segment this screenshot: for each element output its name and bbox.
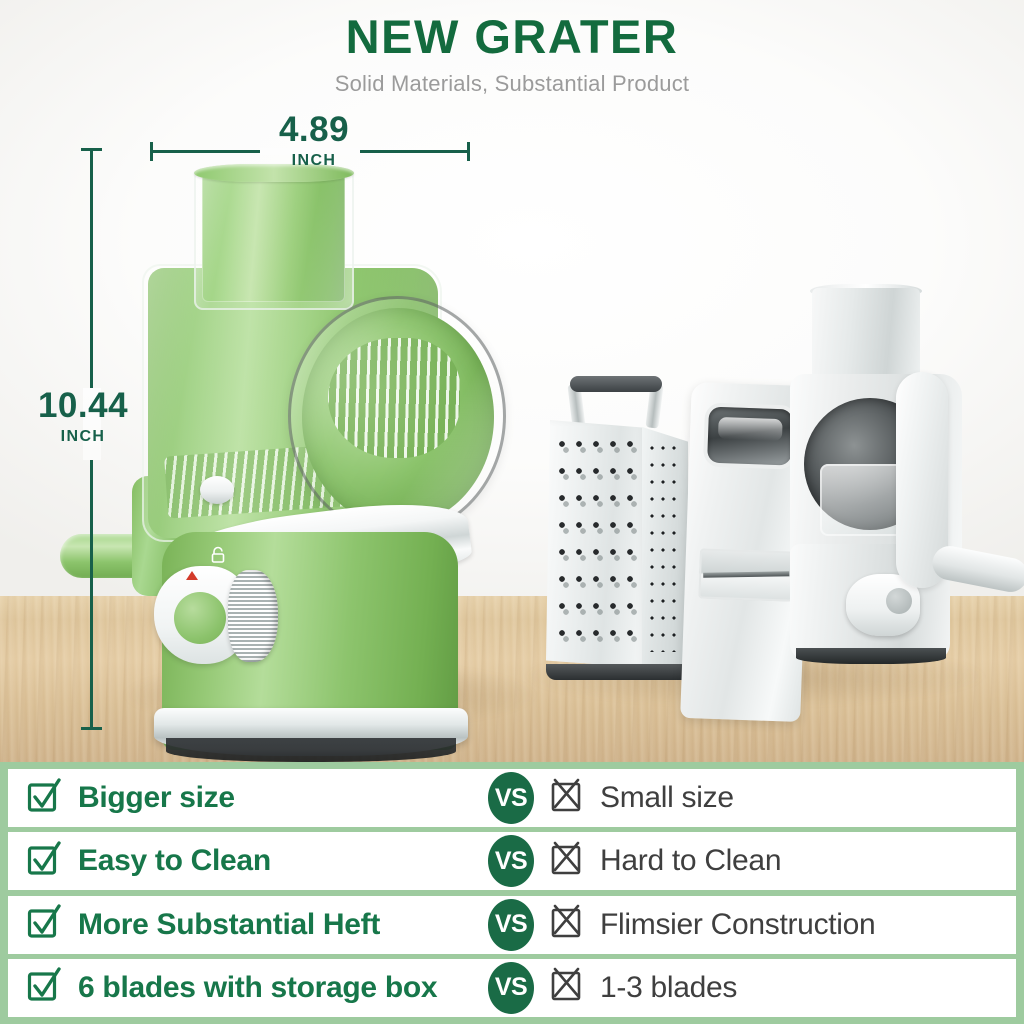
- height-dimension-cap-top: [81, 148, 102, 151]
- comparison-con-cell: Small size: [534, 776, 1016, 821]
- checkbox-checked-icon: [26, 839, 62, 884]
- checkbox-checked-icon: [26, 776, 62, 821]
- comparison-pro-cell: Easy to Clean: [8, 839, 488, 884]
- grater-hopper-glass: [194, 168, 354, 310]
- white-grater-knob-dot: [886, 588, 912, 614]
- width-value: 4.89: [234, 112, 394, 147]
- comparison-row: Easy to Clean VS Hard to Clean: [8, 832, 1016, 890]
- white-rotary-grater: [790, 288, 1024, 700]
- versus-badge: VS: [488, 772, 534, 824]
- product-photo-scene: 4.89 INCH 10.44 INCH: [0, 0, 1024, 762]
- stainless-box-grater: [540, 376, 690, 684]
- comparison-con-label: 1-3 blades: [600, 971, 737, 1005]
- checkbox-checked-icon: [26, 902, 62, 947]
- checkbox-crossed-icon: [548, 839, 584, 884]
- versus-badge: VS: [488, 835, 534, 887]
- box-grater-fine-holes: [648, 444, 682, 652]
- comparison-table: Bigger size VS Small size Easy to Clean …: [0, 762, 1024, 1024]
- comparison-con-label: Flimsier Construction: [600, 908, 875, 942]
- comparison-pro-cell: 6 blades with storage box: [8, 965, 488, 1010]
- white-grater-foot: [796, 648, 946, 664]
- product-infographic: 4.89 INCH 10.44 INCH NEW GRATER Solid Ma…: [0, 0, 1024, 1024]
- width-dimension-cap-right: [467, 142, 470, 161]
- comparison-con-label: Small size: [600, 781, 734, 815]
- width-unit: INCH: [234, 152, 394, 170]
- box-grater-handle-grip: [570, 376, 662, 392]
- checkbox-crossed-icon: [548, 776, 584, 821]
- comparison-row: 6 blades with storage box VS 1-3 blades: [8, 959, 1016, 1017]
- checkbox-crossed-icon: [548, 902, 584, 947]
- height-value: 10.44: [12, 388, 154, 423]
- grater-speed-dial: [228, 570, 278, 662]
- height-dimension-cap-bottom: [81, 727, 102, 730]
- header: NEW GRATER Solid Materials, Substantial …: [0, 0, 1024, 108]
- comparison-con-label: Hard to Clean: [600, 844, 781, 878]
- page-subtitle: Solid Materials, Substantial Product: [0, 60, 1024, 97]
- page-title: NEW GRATER: [0, 0, 1024, 60]
- grater-dial-center: [174, 592, 226, 644]
- box-grater-base-foot: [546, 664, 688, 680]
- green-rotary-grater: [70, 160, 540, 760]
- comparison-pro-label: 6 blades with storage box: [78, 971, 437, 1005]
- comparison-con-cell: Flimsier Construction: [534, 902, 1016, 947]
- comparison-pro-label: More Substantial Heft: [78, 908, 380, 942]
- comparison-row: Bigger size VS Small size: [8, 769, 1016, 827]
- checkbox-checked-icon: [26, 965, 62, 1010]
- versus-badge: VS: [488, 899, 534, 951]
- mandoline-blade: [698, 548, 794, 601]
- comparison-row: More Substantial Heft VS Flimsier Constr…: [8, 896, 1016, 954]
- comparison-pro-cell: Bigger size: [8, 776, 488, 821]
- lock-icon: [210, 546, 226, 564]
- grater-rubber-foot: [166, 738, 456, 762]
- grater-dial-indicator-icon: [186, 571, 198, 580]
- width-dimension-cap-left: [150, 142, 153, 161]
- box-grater-large-holes: [556, 438, 636, 650]
- versus-badge: VS: [488, 962, 534, 1014]
- grater-drum-lid: [288, 296, 506, 536]
- checkbox-crossed-icon: [548, 965, 584, 1010]
- comparison-pro-label: Easy to Clean: [78, 844, 271, 878]
- comparison-con-cell: 1-3 blades: [534, 965, 1016, 1010]
- mandoline-hand-hole: [707, 407, 793, 466]
- comparison-pro-cell: More Substantial Heft: [8, 902, 488, 947]
- height-unit: INCH: [12, 428, 154, 446]
- comparison-pro-label: Bigger size: [78, 781, 235, 815]
- width-dimension-label: 4.89 INCH: [234, 112, 394, 170]
- grater-release-button: [200, 476, 234, 504]
- height-dimension-label: 10.44 INCH: [12, 388, 154, 446]
- comparison-con-cell: Hard to Clean: [534, 839, 1016, 884]
